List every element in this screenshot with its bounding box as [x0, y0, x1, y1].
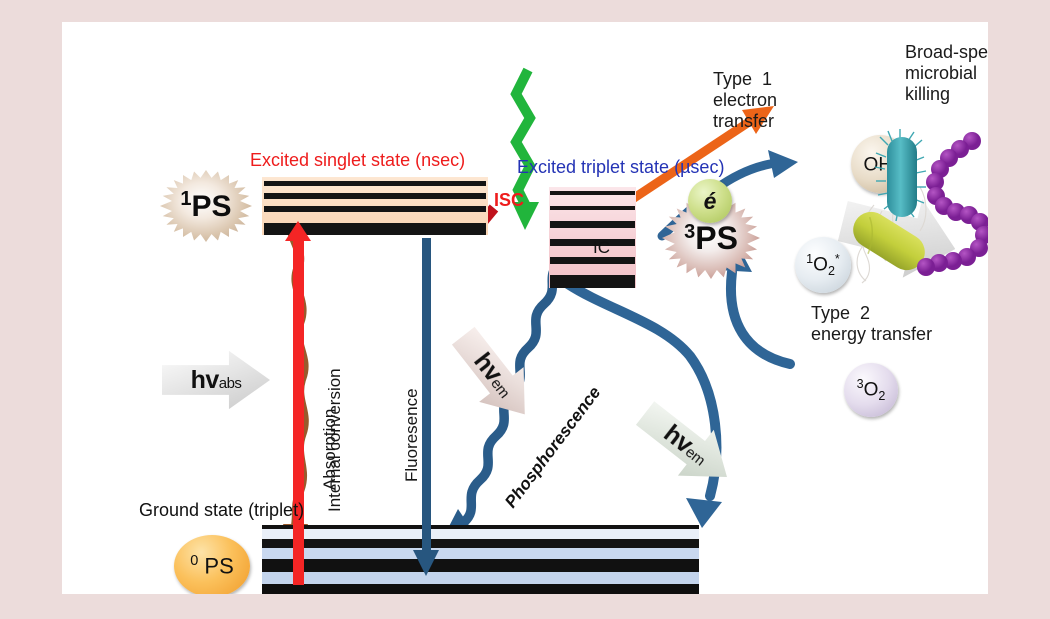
type1-line1: Type 1 [713, 69, 772, 89]
ground-band-5 [262, 559, 699, 572]
ps-ground-label: 0 PS [190, 553, 234, 579]
figure-root: Absorption Internal conversion Fluoresen… [0, 0, 1050, 619]
curved-arrow-to-oh-head [768, 150, 798, 178]
singlet-level-1 [264, 181, 486, 186]
triplet-level-4 [550, 206, 635, 210]
purple-coccus-chain [917, 132, 988, 276]
outcome-line3: killing [905, 84, 950, 104]
internal-conversion-label: Internal conversion [325, 368, 345, 512]
electron-circle: é [688, 179, 732, 223]
type1-pathway-label: Type 1electrontransfer [713, 69, 777, 133]
ic-zigzag [516, 70, 530, 210]
ground-band-6 [262, 572, 699, 584]
outcome-line1: Broad-spectrum [905, 42, 988, 62]
type2-pathway-label: Type 2energy transfer [811, 303, 932, 345]
type2-line1: Type 2 [811, 303, 870, 323]
microbial-killing-label: Broad-spectrummicrobialkilling [905, 42, 988, 106]
ps-singlet-label: 1PS [180, 188, 231, 224]
triplet-level-3 [550, 221, 635, 228]
triplet-level-5 [550, 191, 635, 195]
ic-label: IC [593, 238, 610, 258]
fluorescence-arrow-shaft [422, 238, 431, 555]
type1-line2: electron [713, 90, 777, 110]
absorption-arrowhead [285, 221, 311, 241]
teal-rod-bacterium [875, 129, 926, 221]
fluorescence-arrowhead [413, 550, 439, 576]
ground-state-label: Ground state (triplet) [139, 500, 304, 521]
singlet-level-2 [264, 193, 486, 199]
ground-band-3 [262, 539, 699, 548]
ground-band-4 [262, 548, 699, 559]
triplet-level-0 [550, 275, 635, 288]
triplet-level-1 [550, 257, 635, 264]
excited-triplet-state-label: Excited triplet state (µsec) [517, 157, 724, 178]
ground-state-block [262, 525, 699, 594]
curved-arrow-triplet-to-ground-head [686, 498, 722, 528]
diagram-canvas: Absorption Internal conversion Fluoresen… [62, 22, 988, 594]
type1-line3: transfer [713, 111, 774, 131]
ps-triplet-label: 3PS [684, 220, 738, 257]
triplet-oxygen-label: 3O2 [857, 377, 886, 403]
fluorescence-label: Fluoresence [402, 388, 422, 482]
outcome-line2: microbial [905, 63, 977, 83]
curved-arrow-o2-to-singlet-o2 [731, 272, 790, 364]
triplet-oxygen-circle: 3O2 [844, 363, 898, 417]
electron-label: é [704, 188, 717, 215]
hv-abs-text: hvabs [191, 366, 242, 395]
type2-line2: energy transfer [811, 324, 932, 344]
excited-singlet-state-label: Excited singlet state (nsec) [250, 150, 465, 171]
ground-band-2 [262, 529, 699, 539]
microbe-illustration [832, 127, 988, 307]
ground-band-7 [262, 584, 699, 594]
isc-label: ISC [494, 190, 524, 211]
photosensitizer-ground-circle: 0 PS [174, 535, 250, 594]
absorption-arrow-shaft [293, 235, 304, 585]
singlet-level-3 [264, 206, 486, 212]
